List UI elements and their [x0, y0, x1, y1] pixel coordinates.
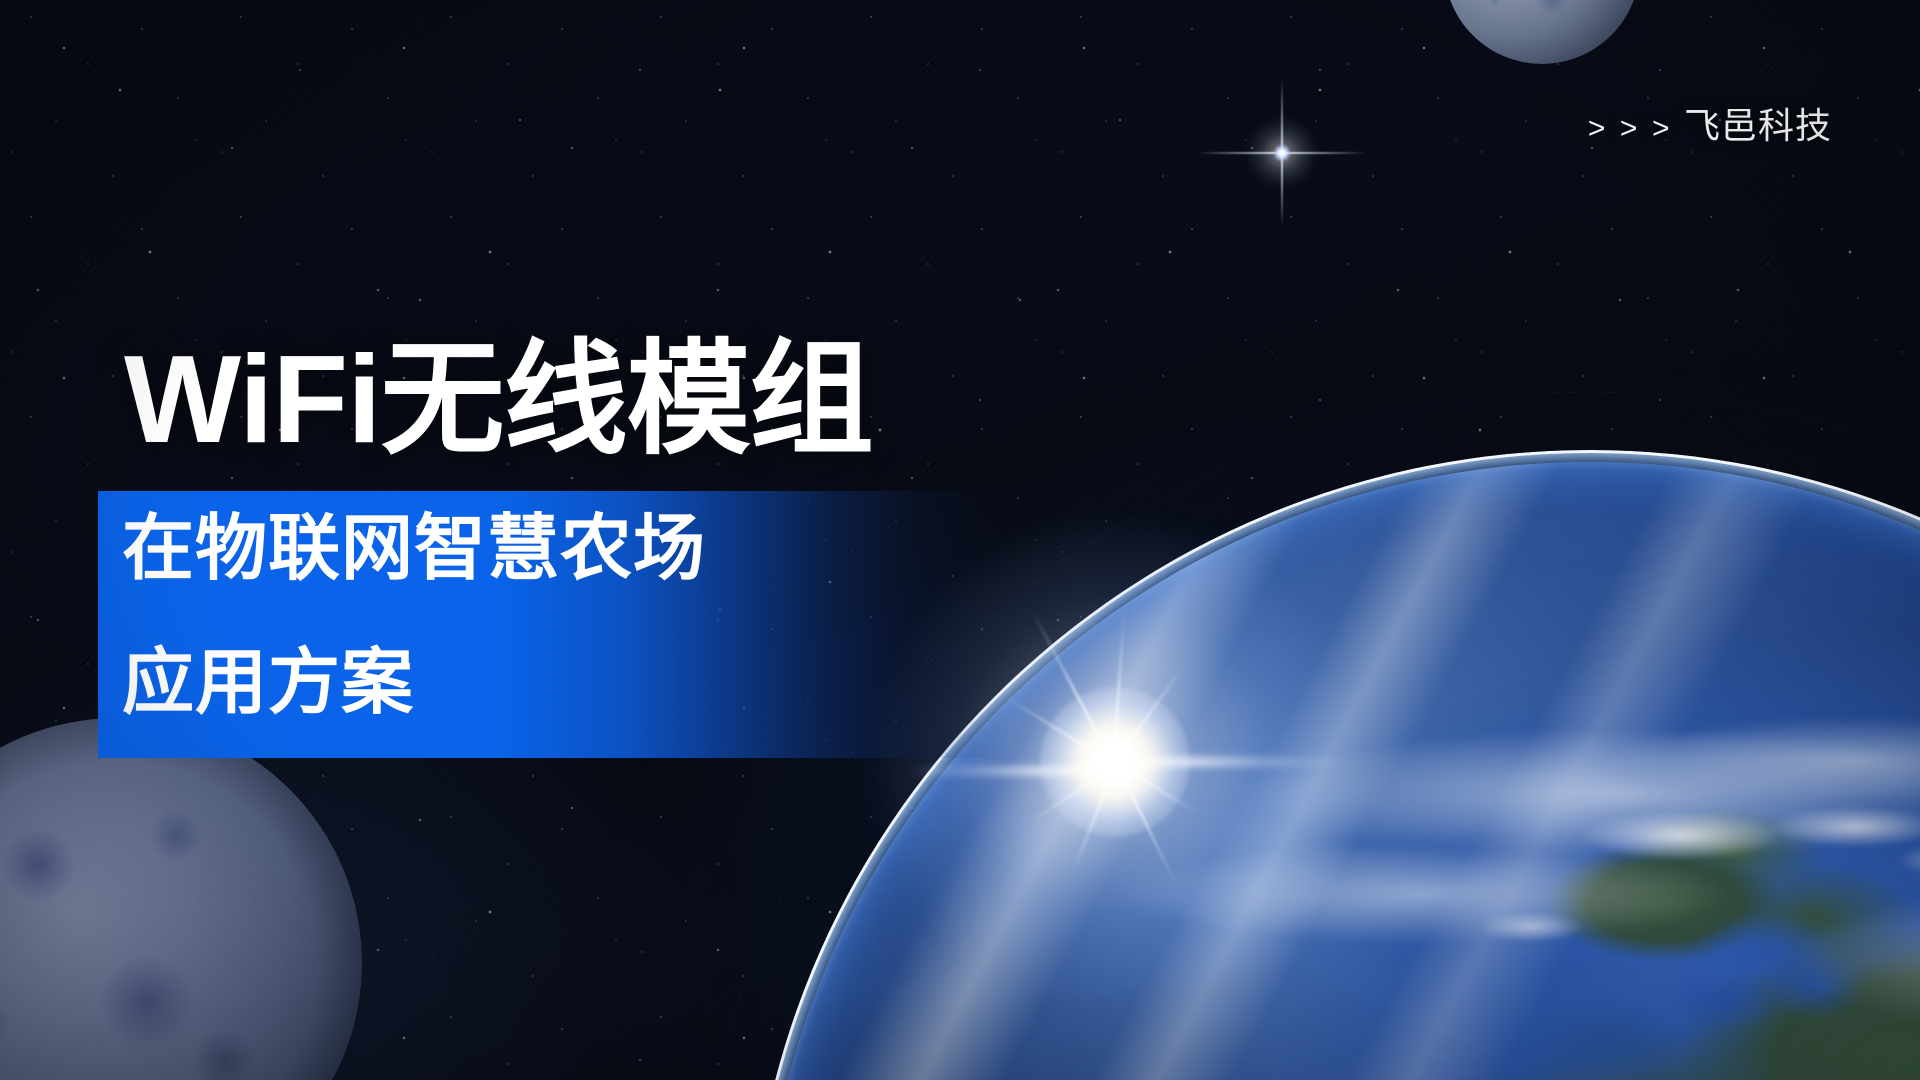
poster-canvas: > > > 飞邑科技 WiFi无线模组 在物联网智慧农场 应用方案 — [0, 0, 1920, 1080]
subtitle-panel: 在物联网智慧农场 应用方案 — [98, 491, 1010, 758]
brand-name: 飞邑科技 — [1684, 108, 1832, 144]
star-core — [1274, 145, 1290, 161]
brand-logo: > > > 飞邑科技 — [1588, 108, 1832, 144]
chevron-right-icon: > — [1652, 114, 1670, 144]
chevron-right-icon: > — [1620, 114, 1638, 144]
subtitle-line-1: 在物联网智慧农场 — [122, 513, 706, 585]
page-title: WiFi无线模组 — [124, 338, 873, 462]
chevron-right-icon: > — [1588, 114, 1606, 144]
sun-flare-core — [1040, 687, 1190, 837]
subtitle-line-2: 应用方案 — [122, 647, 414, 719]
